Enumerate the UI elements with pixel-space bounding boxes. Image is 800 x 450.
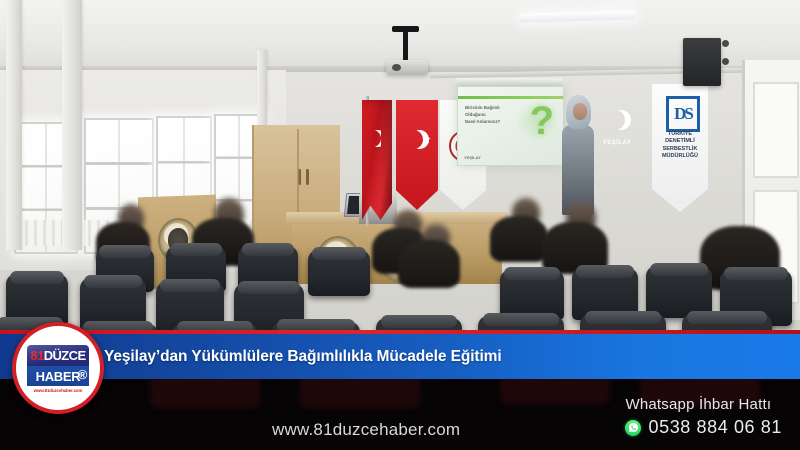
ds-logo-icon: DS — [666, 96, 700, 132]
projector-pole — [403, 28, 408, 64]
ceiling-projector — [386, 60, 428, 74]
seat — [308, 250, 370, 296]
logo-top-box: 81DÜZCE — [27, 345, 89, 366]
whatsapp-number: 0538 884 06 81 — [648, 417, 782, 438]
denetimli-serbestlik-banner: DS TÜRKİYE DENETİMLİ SERBESTLİK MÜDÜRLÜĞ… — [652, 84, 708, 212]
whatsapp-title: Whatsapp İhbar Hattı — [625, 396, 782, 413]
ds-line-4: MÜDÜRLÜĞÜ — [652, 153, 708, 160]
audience-member — [398, 240, 460, 288]
yesilay-banner: YEŞİLAY — [596, 88, 638, 210]
headline-red-accent — [0, 330, 800, 334]
logo-url: www.81duzcehaber.com — [34, 388, 83, 393]
headline-text: Yeşilay’dan Yükümlülere Bağımlılıkla Müc… — [104, 348, 502, 366]
site-logo[interactable]: 81DÜZCE HABER ® www.81duzcehaber.com — [12, 322, 104, 414]
registered-mark-icon: ® — [78, 368, 87, 381]
crescent-icon — [605, 110, 625, 130]
logo-haber: HABER — [36, 370, 81, 383]
slide-line-2: Nasıl Anlarsınız? — [465, 118, 521, 125]
door-fitting-upper — [722, 40, 729, 47]
slide-footer-logo: YEŞİLAY — [464, 155, 481, 160]
wall-speaker — [683, 38, 721, 86]
audience-member — [490, 216, 548, 262]
slide-line-1: Birisinin Bağımlı Olduğunu — [465, 104, 521, 118]
logo-81: 81 — [30, 349, 43, 362]
news-photo-card: ? Birisinin Bağımlı Olduğunu Nasıl Anlar… — [0, 0, 800, 450]
projection-screen: ? Birisinin Bağımlı Olduğunu Nasıl Anlar… — [457, 86, 564, 166]
whatsapp-icon — [625, 420, 641, 436]
question-mark-graphic: ? — [530, 101, 554, 141]
ds-line-2: DENETİMLİ — [652, 138, 708, 145]
projector-screen-roller — [455, 78, 563, 86]
logo-duzce: DÜZCE — [44, 349, 86, 362]
yesilay-banner-label: YEŞİLAY — [596, 140, 638, 146]
site-url-text: www.81duzcehaber.com — [272, 420, 460, 440]
turkish-flag-banner — [396, 100, 438, 210]
door-fitting-lower — [722, 58, 729, 65]
logo-bottom-box: HABER ® — [27, 366, 89, 386]
whatsapp-tipline: Whatsapp İhbar Hattı 0538 884 06 81 — [625, 396, 782, 438]
headline-banner: Yeşilay’dan Yükümlülere Bağımlılıkla Müc… — [0, 334, 800, 379]
